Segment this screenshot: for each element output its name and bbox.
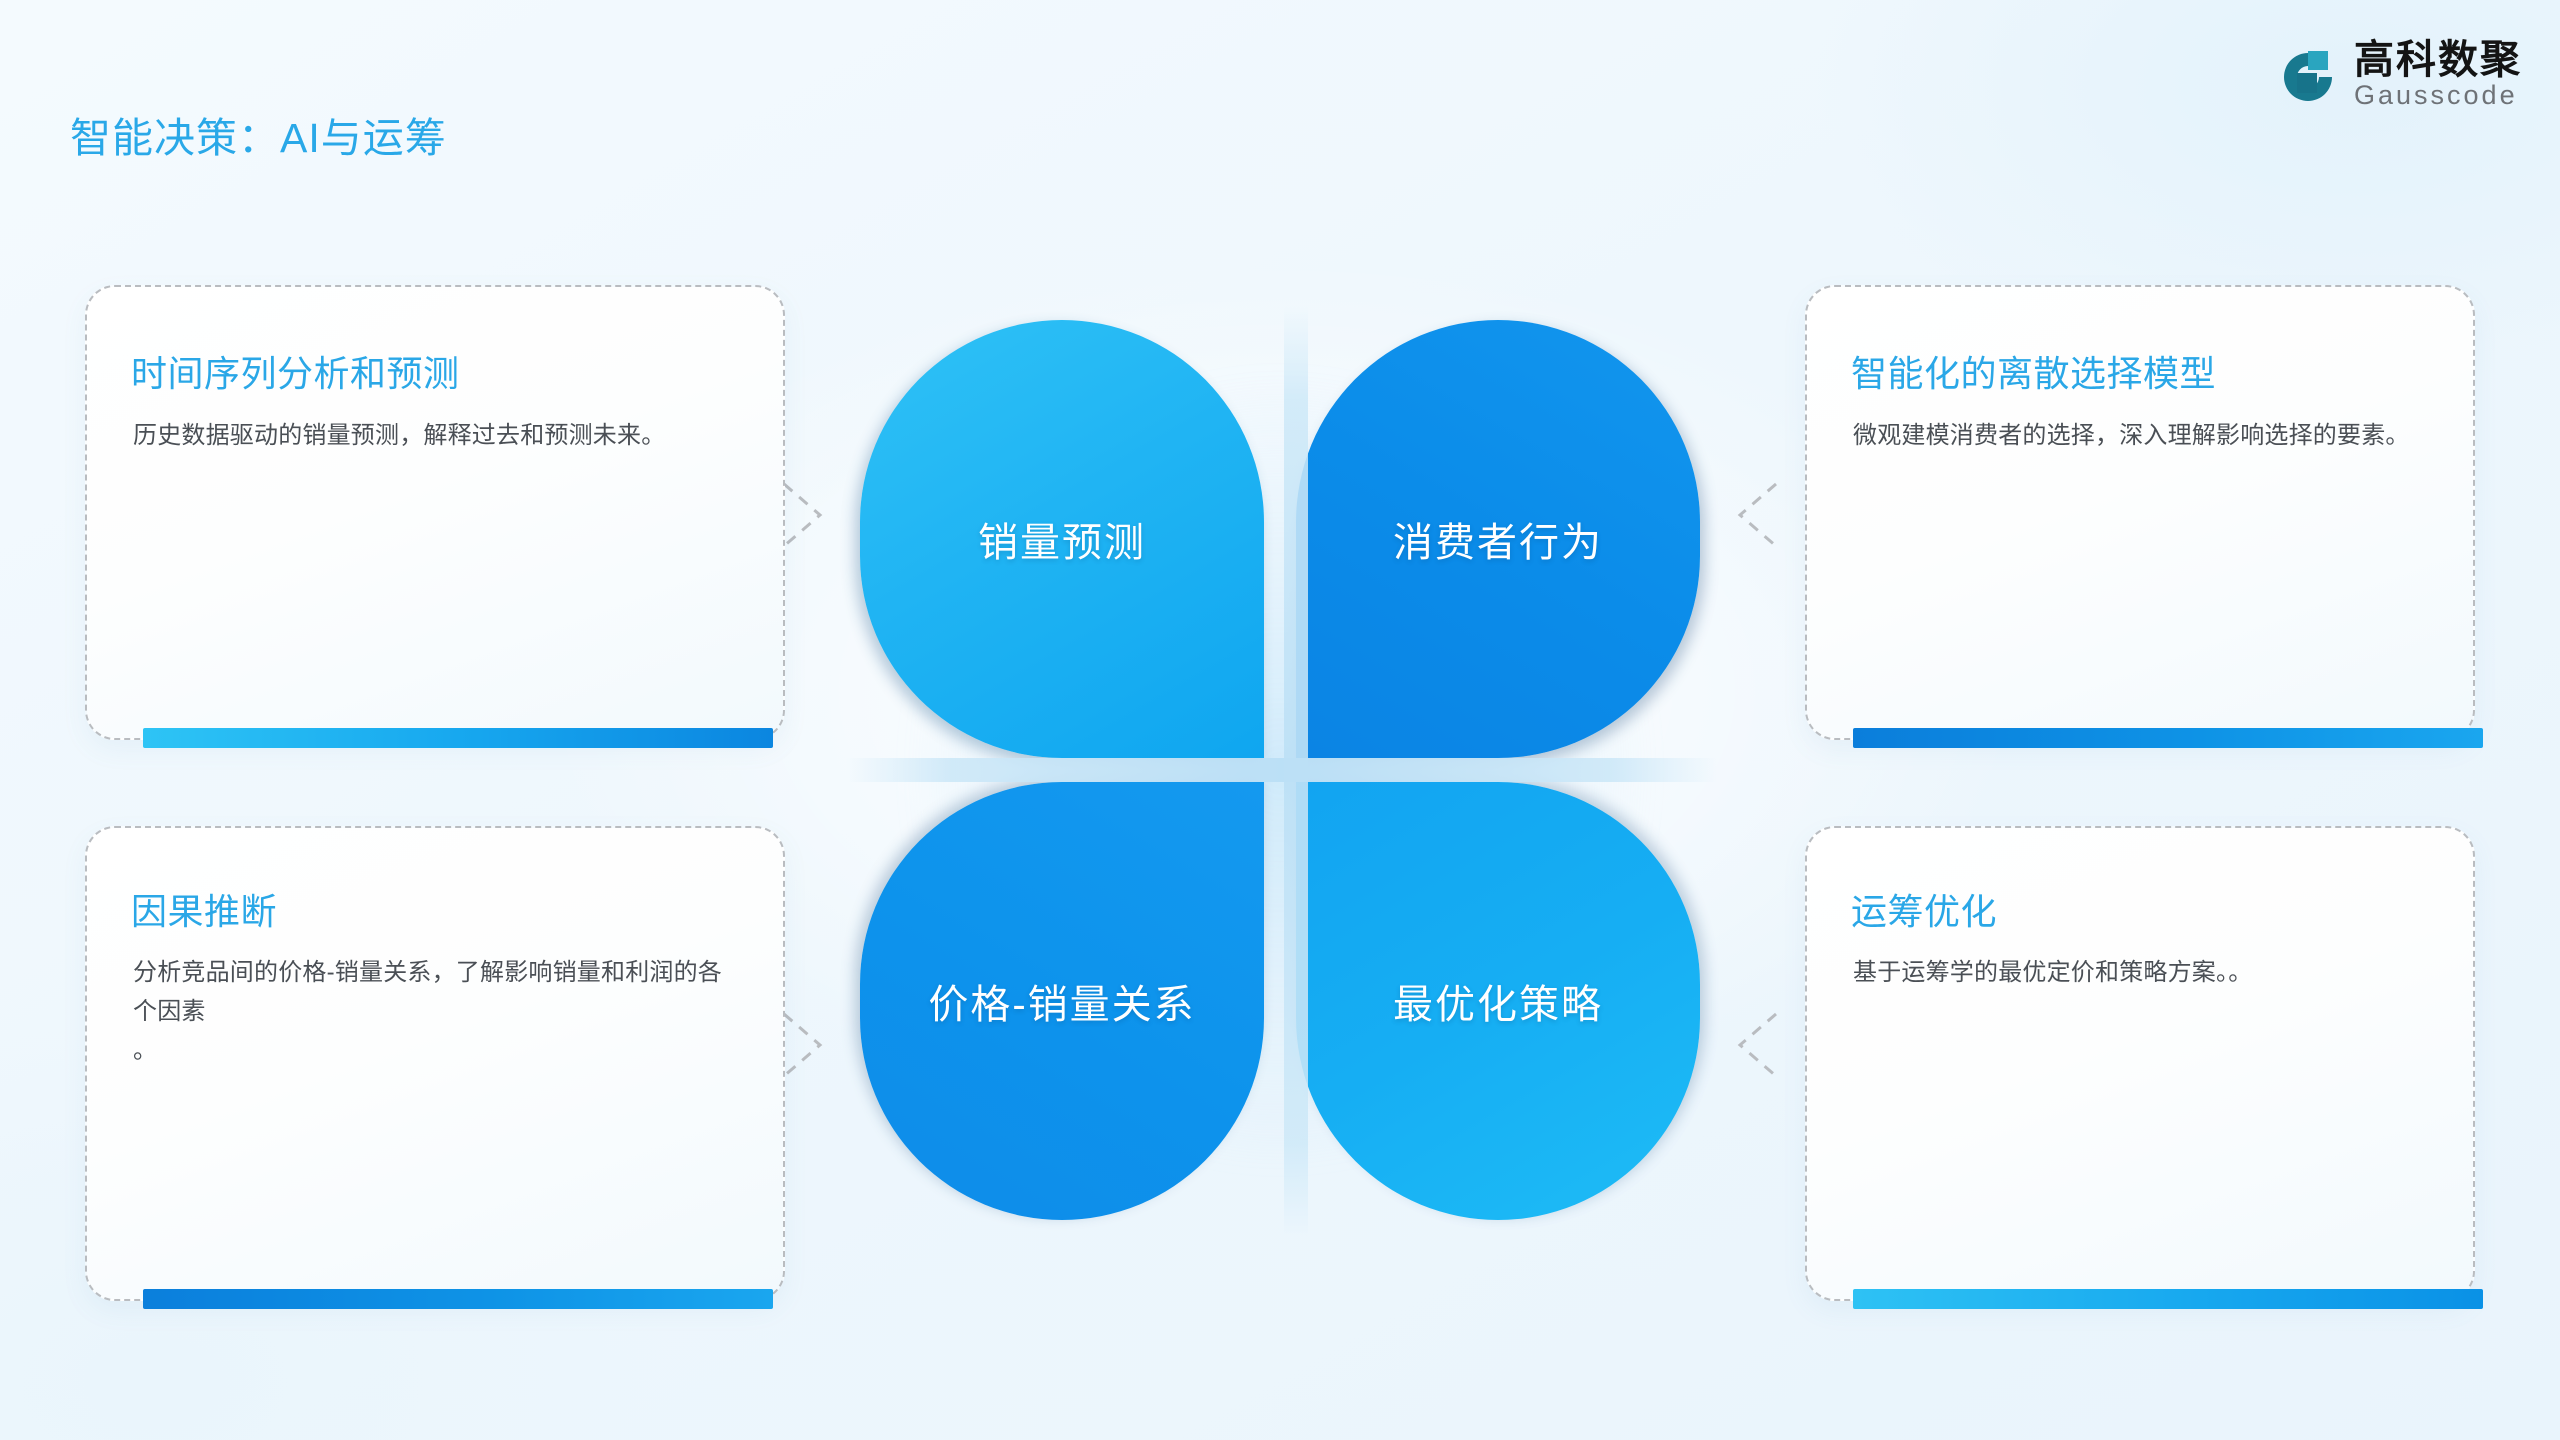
petal-label: 销量预测 xyxy=(860,320,1264,758)
petal-optimization-strategy[interactable]: 最优化策略 xyxy=(1296,782,1700,1220)
page-header: 智能决策：AI与运筹 高科数聚 Gausscode xyxy=(0,0,2560,180)
connector-chevron-left-bottom-right xyxy=(1722,1000,1782,1090)
gausscode-logo-icon xyxy=(2278,47,2336,109)
card-accent-bar xyxy=(1853,1289,2483,1309)
petal-consumer-behavior[interactable]: 消费者行为 xyxy=(1296,320,1700,758)
petal-seam-horizontal xyxy=(846,758,1716,782)
card-body: 历史数据驱动的销量预测，解释过去和预测未来。 xyxy=(133,417,753,456)
card-operations-optimization[interactable]: 运筹优化 基于运筹学的最优定价和策略方案。。 xyxy=(1805,826,2475,1301)
petal-sales-forecast[interactable]: 销量预测 xyxy=(860,320,1264,758)
card-accent-bar xyxy=(1853,728,2483,748)
card-discrete-choice-model[interactable]: 智能化的离散选择模型 微观建模消费者的选择，深入理解影响选择的要素。 xyxy=(1805,285,2475,740)
card-title: 时间序列分析和预测 xyxy=(131,345,460,397)
logo-name-cn: 高科数聚 xyxy=(2354,40,2522,80)
petal-price-sales-relation[interactable]: 价格-销量关系 xyxy=(860,782,1264,1220)
connector-chevron-left-top-right xyxy=(1722,470,1782,560)
card-causal-inference[interactable]: 因果推断 分析竞品间的价格-销量关系，了解影响销量和利润的各个因素 。 xyxy=(85,826,785,1301)
brand-logo: 高科数聚 Gausscode xyxy=(2278,40,2522,109)
card-body: 微观建模消费者的选择，深入理解影响选择的要素。 xyxy=(1853,417,2453,456)
page-title: 智能决策：AI与运筹 xyxy=(70,104,447,164)
card-accent-bar xyxy=(143,1289,773,1309)
card-title: 运筹优化 xyxy=(1851,883,1997,935)
logo-wordmark: 高科数聚 Gausscode xyxy=(2354,40,2522,109)
petal-label: 价格-销量关系 xyxy=(860,782,1264,1220)
connector-chevron-right-top-left xyxy=(778,470,838,560)
petal-label: 最优化策略 xyxy=(1296,782,1700,1220)
connector-chevron-right-bottom-left xyxy=(778,1000,838,1090)
card-accent-bar xyxy=(143,728,773,748)
petal-seam-vertical xyxy=(1284,306,1308,1236)
card-title: 智能化的离散选择模型 xyxy=(1851,345,2216,397)
card-time-series-analysis[interactable]: 时间序列分析和预测 历史数据驱动的销量预测，解释过去和预测未来。 xyxy=(85,285,785,740)
logo-name-en: Gausscode xyxy=(2354,82,2522,109)
petal-label: 消费者行为 xyxy=(1296,320,1700,758)
four-petal-diagram: 销量预测 消费者行为 价格-销量关系 最优化策略 xyxy=(860,320,1700,1220)
card-title: 因果推断 xyxy=(131,883,277,935)
card-body: 基于运筹学的最优定价和策略方案。。 xyxy=(1853,954,2463,993)
card-body: 分析竞品间的价格-销量关系，了解影响销量和利润的各个因素 。 xyxy=(133,954,733,1071)
